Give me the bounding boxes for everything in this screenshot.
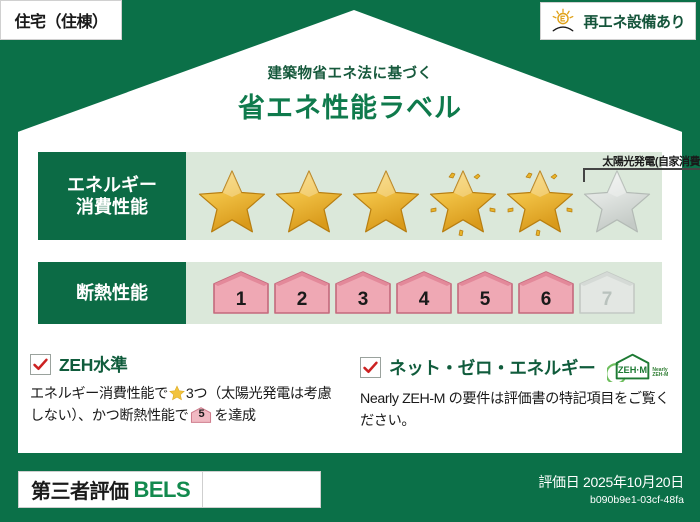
star-icon — [504, 168, 576, 236]
zeh-m-logo: ZEH·M Nearly ZEH-M — [607, 352, 668, 382]
bels-footer: 第三者評価 BELS — [18, 471, 321, 508]
star-icon — [273, 168, 345, 236]
evaluation-id: b090b9e1-03cf-48fa — [538, 494, 684, 506]
zeh-m-house-icon: ZEH·M — [607, 352, 651, 382]
energy-label-line2: 消費性能 — [76, 196, 148, 219]
bels-blank-box — [203, 471, 321, 508]
energy-performance-label: 住宅（住棟） 再エネ設備あり 建築物省エネ法に基づく 省エネ性能ラベル — [0, 0, 700, 522]
insulation-label: 断熱性能 — [76, 282, 148, 305]
insulation-grade-number: 4 — [394, 289, 454, 311]
insulation-grade-number: 1 — [211, 289, 271, 311]
insulation-grade-number: 3 — [333, 289, 393, 311]
energy-star-panel: 太陽光発電(自家消費)分 — [186, 152, 662, 240]
insulation-grade-number: 7 — [577, 289, 637, 311]
zeh-desc-part1: エネルギー消費性能で — [30, 386, 168, 402]
insulation-grade-number: 2 — [272, 289, 332, 311]
star-filled — [350, 168, 422, 236]
sun-icon — [549, 8, 577, 34]
insulation-grade-filled: 3 — [333, 269, 393, 317]
energy-label-line1: エネルギー — [67, 174, 157, 197]
insulation-performance-row: 断熱性能 1234567 — [38, 262, 662, 324]
insulation-grade-filled: 6 — [516, 269, 576, 317]
star-filled — [196, 168, 268, 236]
insulation-grade-panel: 1234567 — [186, 262, 662, 324]
bels-en-label: BELS — [134, 477, 191, 503]
net-zero-energy-checkbox[interactable] — [360, 357, 381, 378]
star-filled — [504, 168, 576, 236]
renewable-badge-label: 再エネ設備あり — [583, 11, 685, 32]
check-icon — [32, 356, 49, 373]
zeh-standard-description: エネルギー消費性能で3つ（太陽光発電は考慮しない）、かつ断熱性能で5を達成 — [30, 383, 340, 427]
check-icon — [362, 359, 379, 376]
bels-certification-box: 第三者評価 BELS — [18, 471, 203, 508]
star-filled — [427, 168, 499, 236]
insulation-grade-filled: 2 — [272, 269, 332, 317]
evaluation-date: 評価日 2025年10月20日 — [538, 472, 684, 492]
insulation-grade-filled: 1 — [211, 269, 271, 317]
star-icon-inline — [169, 385, 185, 401]
renewable-energy-badge: 再エネ設備あり — [540, 2, 696, 40]
building-type-label: 住宅（住棟） — [14, 8, 107, 32]
net-zero-energy-section: ネット・ゼロ・エネルギー ZEH·M Nearly ZEH-M Nearly Z… — [360, 352, 670, 432]
insulation-grade-group: 1234567 — [186, 262, 662, 324]
insulation-performance-label-box: 断熱性能 — [38, 262, 186, 324]
net-zero-energy-header: ネット・ゼロ・エネルギー ZEH·M Nearly ZEH-M — [360, 352, 670, 382]
net-zero-energy-description: Nearly ZEH-M の要件は評価書の特記項目をご覧ください。 — [360, 388, 670, 432]
energy-performance-row: エネルギー 消費性能 太陽光発電(自家消費)分 — [38, 152, 662, 240]
star-icon — [581, 168, 653, 236]
zeh-standard-header: ZEH水準 — [30, 352, 340, 377]
star-empty — [581, 168, 653, 236]
evaluation-info: 評価日 2025年10月20日 b090b9e1-03cf-48fa — [538, 472, 684, 506]
star-icon — [196, 168, 268, 236]
zeh-m-logo-subtext: Nearly ZEH-M — [652, 368, 668, 383]
bels-jp-label: 第三者評価 — [31, 475, 129, 504]
net-zero-energy-title: ネット・ゼロ・エネルギー — [389, 355, 595, 380]
star-icon — [350, 168, 422, 236]
insulation-grade-number: 6 — [516, 289, 576, 311]
insulation-grade-icon-inline: 5 — [190, 406, 212, 424]
inline-house-number: 5 — [190, 406, 212, 423]
star-icon — [427, 168, 499, 236]
star-rating-group — [186, 152, 662, 240]
insulation-grade-filled: 4 — [394, 269, 454, 317]
zeh-standard-title: ZEH水準 — [59, 352, 128, 377]
building-type-tag: 住宅（住棟） — [0, 0, 122, 40]
energy-performance-label-box: エネルギー 消費性能 — [38, 152, 186, 240]
zeh-desc-part3: を達成 — [214, 408, 255, 424]
zeh-standard-section: ZEH水準 エネルギー消費性能で3つ（太陽光発電は考慮しない）、かつ断熱性能で5… — [30, 352, 340, 427]
svg-text:ZEH·M: ZEH·M — [618, 365, 648, 375]
zeh-m-sub-line2: ZEH-M — [652, 372, 668, 378]
insulation-grade-number: 5 — [455, 289, 515, 311]
insulation-grade-filled: 5 — [455, 269, 515, 317]
insulation-grade-empty: 7 — [577, 269, 637, 317]
star-filled — [273, 168, 345, 236]
zeh-standard-checkbox[interactable] — [30, 354, 51, 375]
